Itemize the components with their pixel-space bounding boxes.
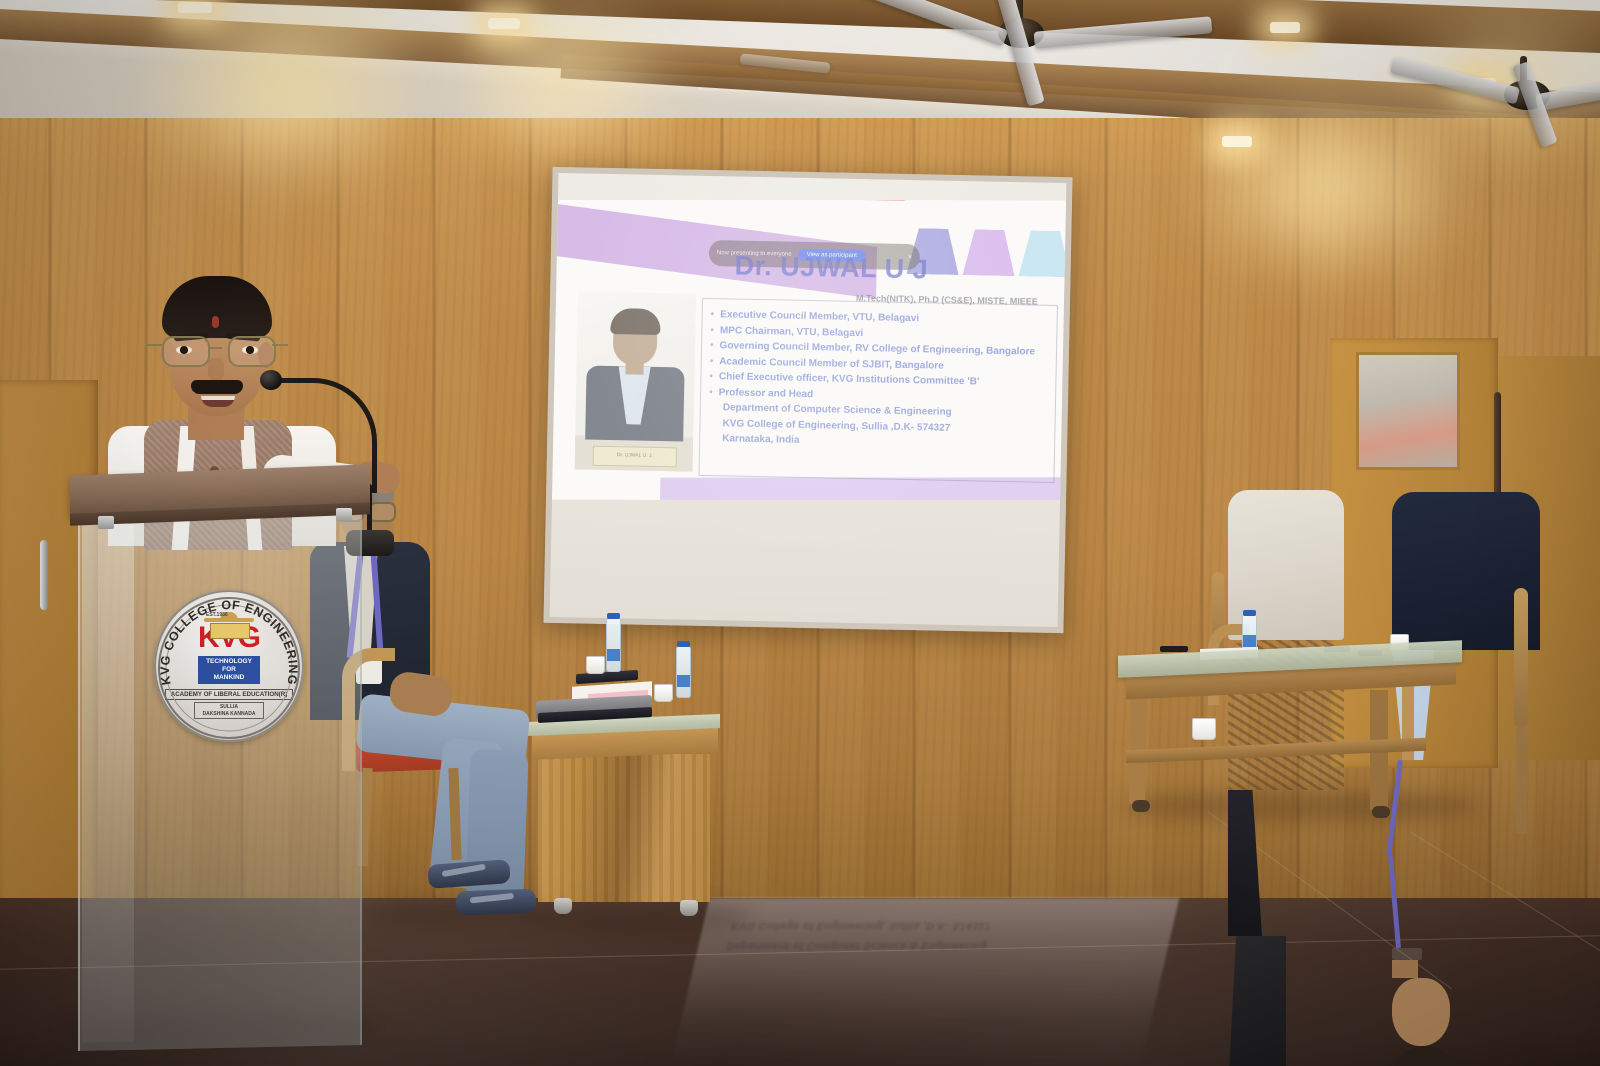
cup xyxy=(654,684,673,702)
podium[interactable]: KVG COLLEGE OF ENGINEERING EST.1986 KVG … xyxy=(62,470,372,1050)
bullet-dot-icon: • xyxy=(709,369,713,385)
hexagon-shape xyxy=(963,229,1016,276)
podium-bolt xyxy=(336,508,352,521)
pocket-crest xyxy=(1392,948,1422,960)
speaker-portrait-photo: Dr. UJWAL U. J. xyxy=(575,291,697,471)
table-foot xyxy=(680,900,698,916)
meet-presenting-banner[interactable]: ▣ You are presenting ❙❙ ■ ⏹ Stop share xyxy=(766,200,909,201)
screen-canvas: ▣ You are presenting ❙❙ ■ ⏹ Stop share N… xyxy=(550,173,1067,627)
bullet-dot-icon: • xyxy=(710,323,714,339)
bullet-dot-icon: • xyxy=(710,354,714,370)
emblem-established: EST.1986 xyxy=(206,612,228,618)
stop-share-button[interactable]: ⏹ Stop share xyxy=(862,200,909,201)
hexagon-shape xyxy=(1019,230,1067,277)
tilak-mark xyxy=(212,316,219,328)
table-leg xyxy=(1129,692,1147,804)
slide-bullet-text: Professor and Head xyxy=(718,385,813,402)
ceiling-fan xyxy=(1400,60,1600,140)
podium-bolt xyxy=(98,516,114,529)
water-bottle xyxy=(676,646,691,698)
door-window xyxy=(1356,352,1460,470)
table-caster xyxy=(1132,800,1150,812)
ceiling-fan xyxy=(930,0,1210,90)
microphone-head[interactable] xyxy=(260,370,282,390)
door-handle-icon[interactable] xyxy=(40,540,48,610)
dais-table xyxy=(1118,648,1468,838)
center-table-items xyxy=(528,640,728,724)
person-face xyxy=(1392,978,1450,1046)
cup xyxy=(1192,718,1216,740)
presentation-slide: ▣ You are presenting ❙❙ ■ ⏹ Stop share N… xyxy=(552,200,1066,500)
ceiling-light xyxy=(488,18,520,29)
bullet-dot-icon: • xyxy=(710,338,714,354)
slide-bullet-box: • Executive Council Member, VTU, Belagav… xyxy=(698,298,1058,483)
cup xyxy=(586,656,605,674)
person-hair xyxy=(162,276,272,338)
ceiling-fan xyxy=(700,48,840,88)
table-foot xyxy=(554,898,572,914)
photo-nameplate: Dr. UJWAL U. J. xyxy=(593,446,677,468)
sandal xyxy=(456,889,537,916)
seminar-hall-photo: KVG College of Engineering, Sullia ,D.K-… xyxy=(0,0,1600,1066)
water-bottle xyxy=(606,618,621,672)
slide-decor-hexagons xyxy=(907,228,1067,277)
projection-screen[interactable]: ▣ You are presenting ❙❙ ■ ⏹ Stop share N… xyxy=(543,167,1072,633)
bullet-dot-icon: • xyxy=(711,307,715,323)
college-emblem: KVG COLLEGE OF ENGINEERING EST.1986 KVG … xyxy=(154,590,304,742)
photo-nameplate-text: Dr. UJWAL U. J. xyxy=(594,447,676,465)
reflected-slide-line: Department of Computer Science & Enginee… xyxy=(725,940,988,952)
reflected-slide-line: KVG College of Engineering, Sullia ,D.K-… xyxy=(730,920,993,932)
mustache xyxy=(191,380,243,394)
table-caster xyxy=(1372,806,1390,818)
slide-floor-reflection: KVG College of Engineering, Sullia ,D.K-… xyxy=(671,898,1180,1066)
ceiling-light xyxy=(178,2,212,13)
chair-leg xyxy=(1516,728,1527,834)
slide-title: Dr. UJWAL U J xyxy=(734,251,928,286)
ceiling-light xyxy=(1222,136,1252,147)
center-side-table xyxy=(528,718,724,930)
ceiling-light xyxy=(1270,22,1300,33)
bullet-dot-icon: • xyxy=(709,385,713,401)
chair-back xyxy=(1514,588,1528,728)
